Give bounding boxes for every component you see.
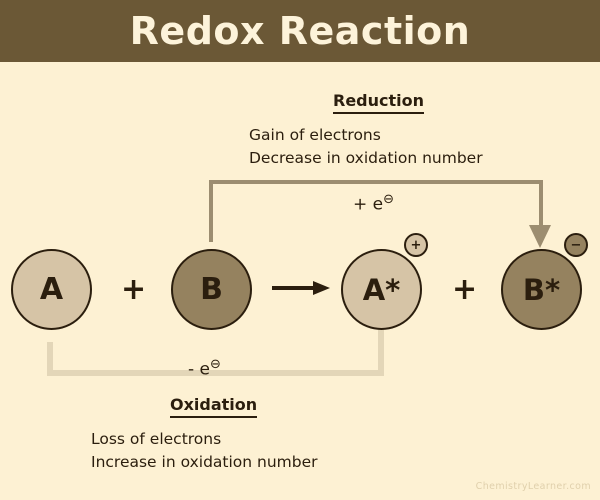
species-B-label: B bbox=[200, 272, 223, 307]
oxidation-line-2: Increase in oxidation number bbox=[91, 453, 318, 471]
plus-sign-products: + bbox=[452, 272, 477, 307]
electron-gain-label: + e⊖ bbox=[353, 192, 394, 215]
electron-charge-icon: ⊖ bbox=[210, 357, 221, 372]
species-A: A bbox=[11, 249, 92, 330]
species-B-star: B* bbox=[501, 249, 582, 330]
species-A-star: A* bbox=[341, 249, 422, 330]
reduction-heading: Reduction bbox=[333, 91, 424, 114]
charge-badge-negative: − bbox=[564, 233, 588, 257]
species-B: B bbox=[171, 249, 252, 330]
species-B-star-label: B* bbox=[523, 273, 560, 307]
charge-badge-positive: + bbox=[404, 233, 428, 257]
diagram-canvas: Reduction Gain of electrons Decrease in … bbox=[0, 62, 600, 500]
reduction-line-1: Gain of electrons bbox=[249, 126, 381, 144]
electron-loss-text: - e bbox=[188, 360, 210, 380]
title-bar: Redox Reaction bbox=[0, 0, 600, 62]
oxidation-line-1: Loss of electrons bbox=[91, 430, 221, 448]
electron-loss-label: - e⊖ bbox=[188, 357, 221, 380]
species-A-label: A bbox=[40, 272, 63, 307]
plus-sign-reactants: + bbox=[121, 272, 146, 307]
species-A-star-label: A* bbox=[363, 273, 401, 307]
reaction-arrow-icon bbox=[272, 281, 330, 295]
page-title: Redox Reaction bbox=[130, 9, 471, 53]
reduction-line-2: Decrease in oxidation number bbox=[249, 149, 483, 167]
electron-charge-icon: ⊖ bbox=[383, 192, 394, 207]
electron-gain-text: + e bbox=[353, 195, 383, 215]
watermark: ChemistryLearner.com bbox=[476, 481, 591, 492]
oxidation-heading: Oxidation bbox=[170, 395, 257, 418]
